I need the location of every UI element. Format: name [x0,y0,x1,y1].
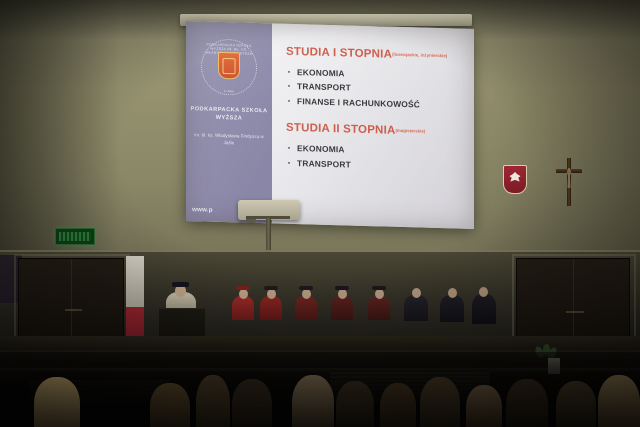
panel-member-head [375,289,384,299]
panel-member-cap-icon [299,286,313,290]
section-2-note: (magisterskie) [395,128,425,134]
institution-name: PODKARPACKA SZKOŁA WYŻSZA [190,105,268,124]
panel-member [295,296,317,320]
panel-member-head [479,287,488,297]
institution-url: www.p [192,206,213,214]
panel-member-head [448,288,457,298]
section-1-title: STUDIA I STOPNIA [286,46,392,61]
section-2-list: EKONOMIA TRANSPORT [286,141,466,175]
panel-member [440,295,464,322]
emblem-sub-text: w Jaśle [224,89,234,93]
panel-member-head [302,289,311,299]
audience-head [556,381,596,427]
panel-member [368,296,390,320]
panel-member-cap-icon [264,286,278,290]
panel-member [404,295,428,321]
crucifix-icon [556,158,582,206]
panel-member [331,296,353,320]
panel-member-head [267,289,276,299]
section-1-note: (licencjackie, inżynierskie) [392,52,447,59]
eagle-icon [510,172,521,184]
foreground-audience-area [0,352,640,427]
audience-head [420,377,460,427]
panel-member [472,294,496,324]
panel-member-head [412,288,421,298]
panel-member-cap-icon [236,286,250,290]
section-1-list: EKONOMIA TRANSPORT FINANSE I RACHUNKOWOŚ… [286,65,466,113]
photo-scene: PODKARPACKA SZKOŁA WYŻSZA IM. BŁ. KS. WŁ… [0,0,640,427]
panel-member-cap-icon [335,286,349,290]
speaker-cap-icon [172,282,189,287]
audience-head [292,375,334,427]
audience-head [34,377,80,427]
audience-head [336,381,374,427]
audience-head [150,383,190,427]
panel-member [260,296,282,320]
panel-member-head [239,289,248,299]
section-1-heading: STUDIA I STOPNIA(licencjackie, inżyniers… [286,46,466,63]
panel-member [232,296,254,320]
university-emblem-icon: PODKARPACKA SZKOŁA WYŻSZA IM. BŁ. KS. WŁ… [201,38,257,96]
audience-head [380,383,416,427]
section-2-heading: STUDIA II STOPNIA(magisterskie) [286,122,466,139]
emergency-exit-icon [55,228,95,245]
projector-mount-pole [266,218,271,254]
slide-content: STUDIA I STOPNIA(licencjackie, inżyniers… [272,23,474,229]
audience-head [466,385,502,427]
national-crest-icon [503,165,527,194]
audience-head [232,379,272,427]
emblem-shield-icon [218,52,240,80]
institution-patron: im. bł. ks. Władysława Findysza w Jaśle [191,131,267,148]
slide-institution-panel: PODKARPACKA SZKOŁA WYŻSZA IM. BŁ. KS. WŁ… [186,21,272,223]
projection-screen: PODKARPACKA SZKOŁA WYŻSZA IM. BŁ. KS. WŁ… [186,21,474,229]
panel-member-head [338,289,347,299]
audience-head [506,379,548,427]
audience-head [196,375,230,427]
panel-member-cap-icon [372,286,386,290]
section-2-title: STUDIA II STOPNIA [286,122,395,137]
exit-sign-glow [59,232,91,241]
audience-head [598,375,640,427]
